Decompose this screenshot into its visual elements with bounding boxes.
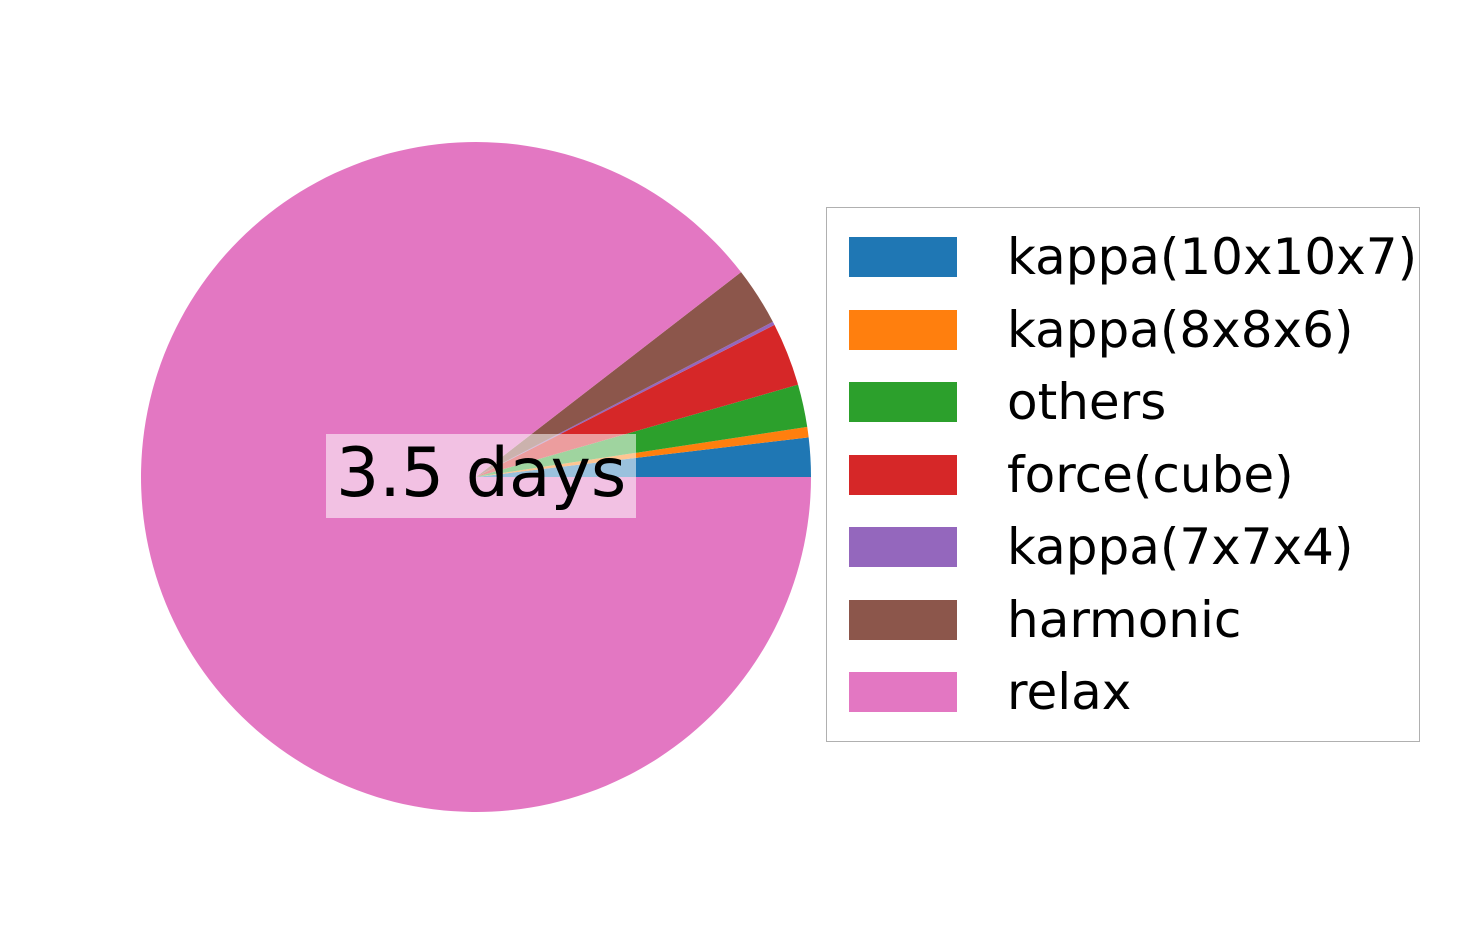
pie-chart-figure: 3.5 days kappa(10x10x7) kappa(8x8x6) oth… <box>0 0 1483 951</box>
legend-item-harmonic[interactable]: harmonic <box>827 589 1419 651</box>
legend-item-kappa-10x10x7[interactable]: kappa(10x10x7) <box>827 226 1419 288</box>
legend-swatch-icon <box>849 600 957 640</box>
legend-item-label: kappa(10x10x7) <box>1007 232 1417 282</box>
legend-item-kappa-7x7x4[interactable]: kappa(7x7x4) <box>827 516 1419 578</box>
legend-swatch-icon <box>849 310 957 350</box>
legend-item-label: kappa(7x7x4) <box>1007 522 1353 572</box>
legend-item-relax[interactable]: relax <box>827 661 1419 723</box>
legend-item-label: relax <box>1007 667 1131 717</box>
legend-item-label: kappa(8x8x6) <box>1007 305 1353 355</box>
pie-center-label: 3.5 days <box>326 434 636 518</box>
legend-swatch-icon <box>849 237 957 277</box>
legend-item-label: force(cube) <box>1007 450 1294 500</box>
legend-swatch-icon <box>849 455 957 495</box>
legend-item-label: others <box>1007 377 1166 427</box>
chart-legend: kappa(10x10x7) kappa(8x8x6) others force… <box>826 207 1420 742</box>
legend-swatch-icon <box>849 382 957 422</box>
legend-item-force-cube[interactable]: force(cube) <box>827 444 1419 506</box>
legend-swatch-icon <box>849 672 957 712</box>
legend-item-label: harmonic <box>1007 595 1241 645</box>
legend-item-others[interactable]: others <box>827 371 1419 433</box>
legend-swatch-icon <box>849 527 957 567</box>
legend-item-kappa-8x8x6[interactable]: kappa(8x8x6) <box>827 299 1419 361</box>
